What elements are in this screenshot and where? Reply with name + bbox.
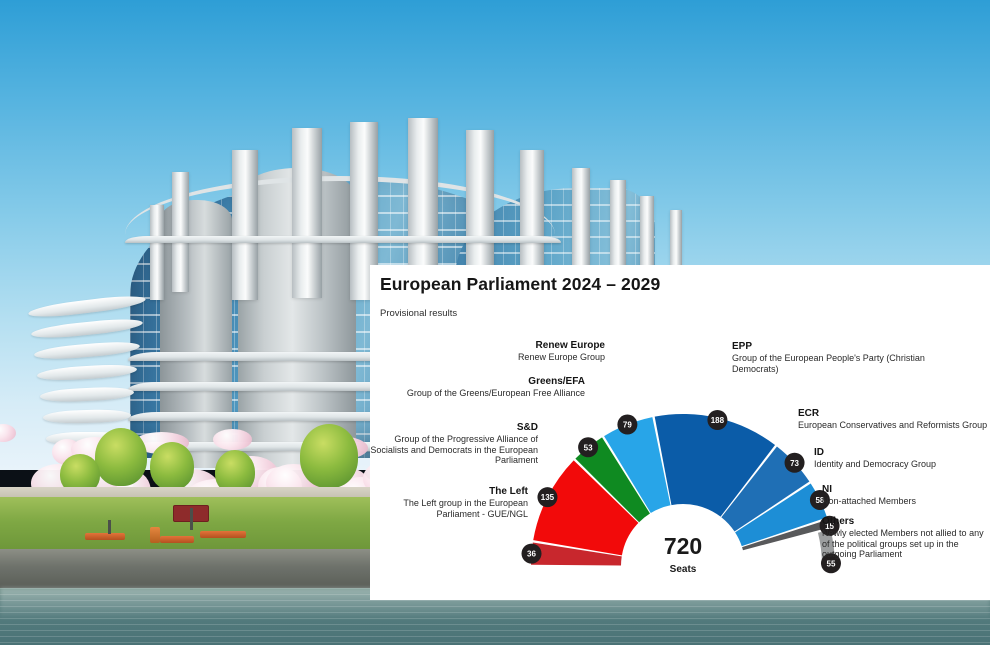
- legend-ni-name: NI: [822, 484, 990, 496]
- seat-badge-value: 135: [541, 493, 555, 502]
- hemicycle-chart: 36135537918873581555 720Seats Renew Euro…: [370, 320, 990, 600]
- tower-fin: [150, 205, 164, 300]
- waste-bin: [150, 527, 160, 543]
- legend-the-left-desc: The Left group in the European Parliamen…: [370, 498, 528, 519]
- legend-renew[interactable]: Renew Europe Renew Europe Group: [380, 340, 605, 363]
- tower-fin: [172, 172, 189, 292]
- legend-ni[interactable]: NI Non-attached Members: [822, 484, 990, 507]
- legend-greens[interactable]: Greens/EFA Group of the Greens/European …: [370, 376, 585, 399]
- bench: [85, 533, 125, 540]
- legend-others-name: Others: [822, 516, 990, 528]
- green-tree: [95, 428, 147, 486]
- legend-renew-name: Renew Europe: [380, 340, 605, 352]
- seat-badge-value: 79: [623, 421, 632, 430]
- green-tree: [300, 424, 358, 488]
- legend-id[interactable]: ID Identity and Democracy Group: [814, 447, 990, 470]
- legend-epp-desc: Group of the European People's Party (Ch…: [732, 353, 962, 374]
- blossom-canopy: [213, 429, 252, 450]
- legend-epp-name: EPP: [732, 341, 962, 353]
- legend-id-name: ID: [814, 447, 990, 459]
- legend-greens-name: Greens/EFA: [370, 376, 585, 388]
- seat-badge-value: 188: [711, 416, 725, 425]
- green-tree: [150, 442, 194, 490]
- tower-fin: [292, 128, 322, 298]
- blossom-canopy: [0, 424, 16, 442]
- legend-ni-desc: Non-attached Members: [822, 496, 990, 507]
- legend-others[interactable]: Others Newly elected Members not allied …: [822, 516, 990, 560]
- legend-renew-desc: Renew Europe Group: [380, 352, 605, 363]
- legend-sd-name: S&D: [370, 422, 538, 434]
- legend-sd-desc: Group of the Progressive Alliance of Soc…: [370, 434, 538, 466]
- legend-others-desc: Newly elected Members not allied to any …: [822, 528, 990, 560]
- legend-ecr-desc: European Conservatives and Reformists Gr…: [798, 420, 988, 431]
- total-seats-label: Seats: [670, 564, 697, 575]
- seat-badge-value: 73: [790, 459, 799, 468]
- balcony-band: [125, 236, 561, 243]
- legend-the-left[interactable]: The Left The Left group in the European …: [370, 486, 528, 519]
- seat-badge-value: 53: [584, 443, 593, 452]
- legend-ecr-name: ECR: [798, 408, 988, 420]
- results-panel: European Parliament 2024 – 2029 Provisio…: [370, 265, 990, 600]
- sign-post: [108, 520, 111, 534]
- legend-ecr[interactable]: ECR European Conservatives and Reformist…: [798, 408, 988, 431]
- bench: [200, 531, 246, 538]
- tower-fin: [232, 150, 258, 300]
- legend-id-desc: Identity and Democracy Group: [814, 459, 990, 470]
- legend-epp[interactable]: EPP Group of the European People's Party…: [732, 341, 962, 374]
- sign-post: [190, 508, 193, 530]
- seat-badge-value: 55: [827, 559, 836, 568]
- screenshot-stage: European Parliament 2024 – 2029 Provisio…: [0, 0, 990, 645]
- page-title: European Parliament 2024 – 2029: [380, 274, 660, 295]
- legend-sd[interactable]: S&D Group of the Progressive Alliance of…: [370, 422, 538, 466]
- legend-the-left-name: The Left: [370, 486, 528, 498]
- total-seats-value: 720: [664, 533, 702, 559]
- legend-greens-desc: Group of the Greens/European Free Allian…: [370, 388, 585, 399]
- bench: [160, 536, 194, 543]
- seat-badge-value: 36: [527, 550, 536, 559]
- panel-subtitle: Provisional results: [380, 308, 457, 319]
